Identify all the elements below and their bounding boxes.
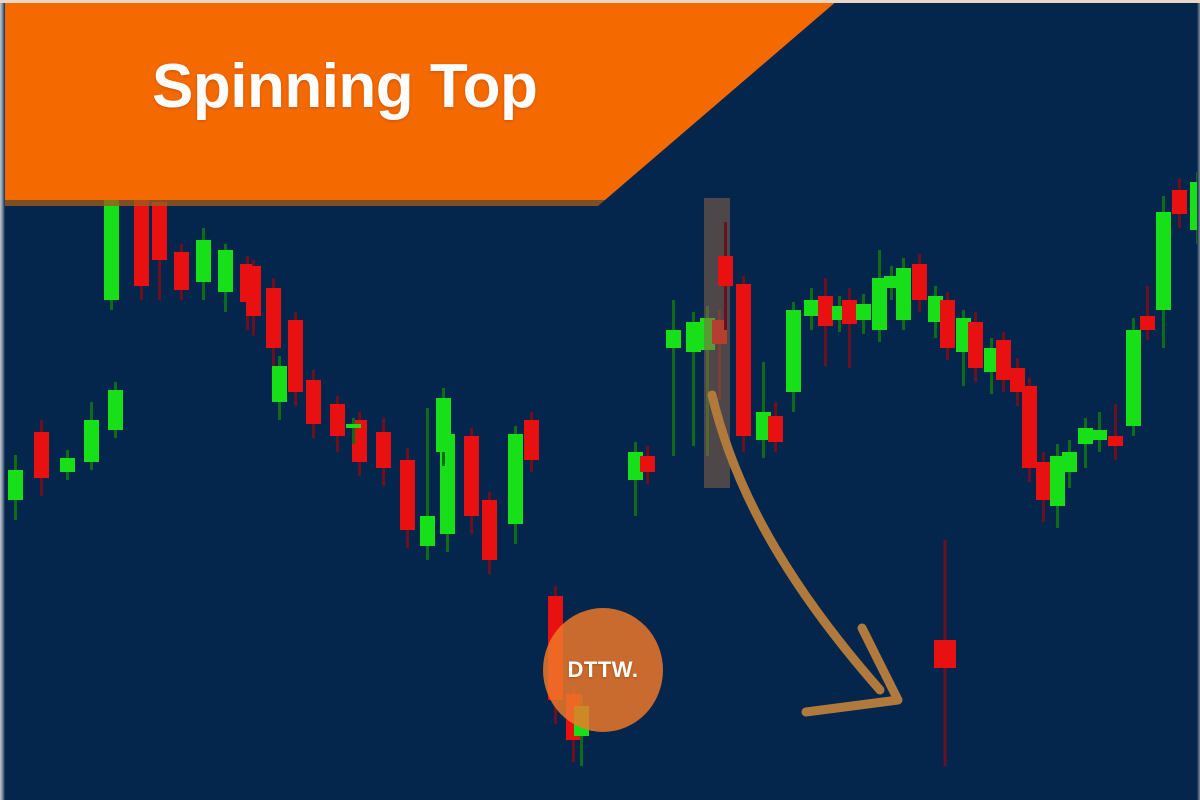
candle-body [856, 304, 871, 320]
candle-body [266, 288, 281, 348]
candle-body [108, 390, 123, 430]
candle-body [686, 322, 701, 352]
candle-body [1062, 452, 1077, 472]
candle-body [346, 424, 361, 428]
candle-body [1078, 428, 1093, 444]
chart-image: DTTW. Spinning Top [0, 0, 1200, 800]
candle-body [84, 420, 99, 462]
candle-body [376, 432, 391, 468]
candle-body [524, 420, 539, 460]
candle-body [896, 268, 911, 320]
candle-body [246, 266, 261, 316]
candle-body [464, 436, 479, 516]
page-title: Spinning Top [152, 56, 537, 118]
candle-body [1126, 330, 1141, 426]
candle-body [482, 500, 497, 560]
candle-body [996, 340, 1011, 380]
candle-body [1022, 386, 1037, 468]
frame-edge-left [0, 0, 5, 800]
candle-body [640, 456, 655, 472]
candle-body [736, 284, 751, 436]
frame-edge-top [0, 0, 1200, 3]
candle-body [218, 250, 233, 292]
candle-body [196, 240, 211, 282]
candle-body [1108, 436, 1123, 446]
candle-body [60, 458, 75, 472]
candle-body [786, 310, 801, 392]
dttw-watermark-badge: DTTW. [543, 608, 663, 732]
candle-body [508, 434, 523, 524]
candle-body [1156, 212, 1171, 310]
candle-body [436, 398, 451, 452]
candle-wick [672, 300, 675, 456]
candle-body [842, 300, 857, 324]
candle-wick [352, 418, 355, 444]
dttw-watermark-label: DTTW. [568, 657, 639, 683]
candle-body [400, 460, 415, 530]
candle-body [8, 470, 23, 500]
candle-wick [1146, 286, 1149, 340]
banner-shadow-edge [0, 200, 605, 206]
candle-body [1092, 430, 1107, 440]
candle-body [912, 264, 927, 300]
candle-body [104, 196, 119, 300]
candle-body [288, 320, 303, 392]
candle-body [1140, 316, 1155, 330]
candle-body [306, 380, 321, 424]
candle-body [1036, 462, 1051, 500]
candle-body [666, 330, 681, 348]
candle-body [330, 404, 345, 436]
candle-body [174, 252, 189, 290]
candle-body [804, 300, 819, 316]
candle-body [934, 640, 956, 668]
candle-body [34, 432, 49, 478]
candle-body [718, 256, 733, 286]
candle-body [1172, 190, 1187, 214]
candle-body [420, 516, 435, 546]
candle-body [818, 296, 833, 326]
candle-body [768, 416, 783, 442]
candle-body [940, 300, 955, 348]
candle-wick [762, 362, 765, 458]
candle-body [968, 322, 983, 368]
candle-wick [1114, 404, 1117, 460]
candle-body [272, 366, 287, 402]
candle-body [152, 202, 167, 260]
candle-body [134, 200, 149, 286]
